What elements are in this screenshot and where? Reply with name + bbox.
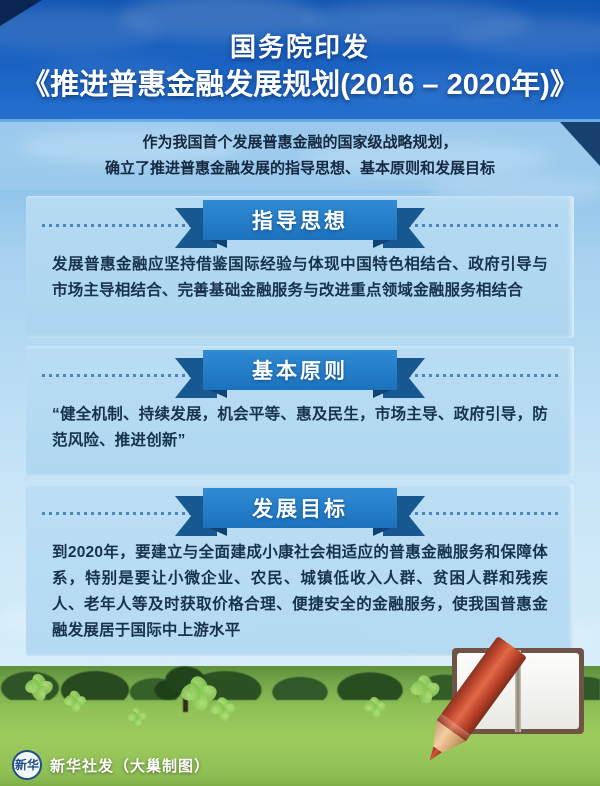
title-line-2: 《推进普惠金融发展规划(2016 – 2020年)》 (0, 64, 600, 106)
ribbon-header: 基本原则 (26, 346, 574, 400)
section-title: 基本原则 (252, 355, 348, 385)
subtitle-line-2: 确立了推进普惠金融发展的指导思想、基本原则和发展目标 (0, 156, 600, 182)
clover-icon (411, 675, 439, 703)
section-panel-basic-principles: 基本原则 “健全机制、持续发展，机会平等、惠及民生，市场主导、政府引导，防范风险… (26, 346, 574, 476)
section-panel-guiding-thought: 指导思想 发展普惠金融应坚持借鉴国际经验与体现中国特色相结合、政府引导与市场主导… (26, 196, 574, 338)
ribbon-banner: 指导思想 (175, 200, 425, 248)
title-line-1: 国务院印发 (0, 30, 600, 64)
book-page-right (521, 653, 579, 729)
ribbon-header: 发展目标 (26, 484, 574, 538)
section-title: 发展目标 (252, 493, 348, 523)
clover-icon (64, 690, 85, 711)
section-panel-development-goals: 发展目标 到2020年，要建立与全面建成小康社会相适应的普惠金融服务和保障体系，… (26, 484, 574, 656)
subtitle-line-1: 作为我国首个发展普惠金融的国家级战略规划， (0, 130, 600, 156)
ribbon-header: 指导思想 (26, 196, 574, 250)
ribbon-center: 基本原则 (203, 350, 397, 390)
section-body-text: 发展普惠金融应坚持借鉴国际经验与体现中国特色相结合、政府引导与市场主导相结合、完… (26, 250, 574, 304)
corner-triangle-icon (0, 0, 42, 26)
section-body-text: 到2020年，要建立与全面建成小康社会相适应的普惠金融服务和保障体系，特别是要让… (26, 538, 574, 644)
clover-icon (365, 697, 385, 717)
subtitle-text: 作为我国首个发展普惠金融的国家级战略规划， 确立了推进普惠金融发展的指导思想、基… (0, 130, 600, 182)
clover-icon (26, 674, 53, 701)
ribbon-banner: 发展目标 (175, 488, 425, 536)
subtitle-band: 作为我国首个发展普惠金融的国家级战略规划， 确立了推进普惠金融发展的指导思想、基… (0, 122, 600, 190)
clover-icon (211, 697, 235, 721)
ribbon-banner: 基本原则 (175, 350, 425, 398)
infographic-poster: 国务院印发 《推进普惠金融发展规划(2016 – 2020年)》 作为我国首个发… (0, 0, 600, 786)
page-title: 国务院印发 《推进普惠金融发展规划(2016 – 2020年)》 (0, 30, 600, 106)
credit-text: 新华社发（大巢制图） (50, 755, 210, 776)
section-body-text: “健全机制、持续发展，机会平等、惠及民生，市场主导、政府引导，防范风险、推进创新… (26, 400, 574, 454)
section-title: 指导思想 (252, 205, 348, 235)
xinhua-logo-icon: 新华 (12, 750, 42, 780)
footer-credit: 新华 新华社发（大巢制图） (12, 750, 210, 780)
clover-icon (128, 708, 147, 727)
header-band: 国务院印发 《推进普惠金融发展规划(2016 – 2020年)》 (0, 0, 600, 119)
ribbon-center: 发展目标 (203, 488, 397, 528)
ribbon-center: 指导思想 (203, 200, 397, 240)
